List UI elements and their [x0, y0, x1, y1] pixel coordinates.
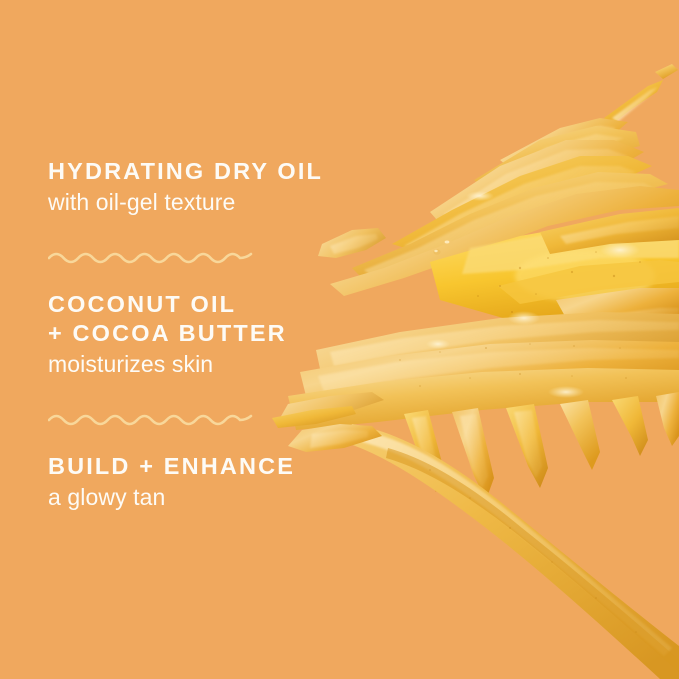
feature-1-subtext: with oil-gel texture [48, 188, 378, 218]
feature-3-subtext: a glowy tan [48, 483, 378, 513]
feature-2-heading-line-1: COCONUT OIL [48, 290, 378, 319]
feature-item-3: BUILD + ENHANCE a glowy tan [48, 452, 378, 513]
feature-2-subtext: moisturizes skin [48, 350, 378, 380]
feature-1-heading: HYDRATING DRY OIL [48, 157, 378, 186]
feature-2-heading-line-2: + COCOA BUTTER [48, 319, 378, 348]
feature-3-heading: BUILD + ENHANCE [48, 452, 378, 481]
wavy-divider-2 [48, 410, 253, 426]
product-feature-image: HYDRATING DRY OIL with oil-gel texture C… [0, 0, 679, 679]
feature-item-2: COCONUT OIL + COCOA BUTTER moisturizes s… [48, 290, 378, 380]
wavy-divider-1 [48, 248, 253, 264]
feature-item-1: HYDRATING DRY OIL with oil-gel texture [48, 157, 378, 218]
feature-list: HYDRATING DRY OIL with oil-gel texture C… [48, 157, 378, 513]
